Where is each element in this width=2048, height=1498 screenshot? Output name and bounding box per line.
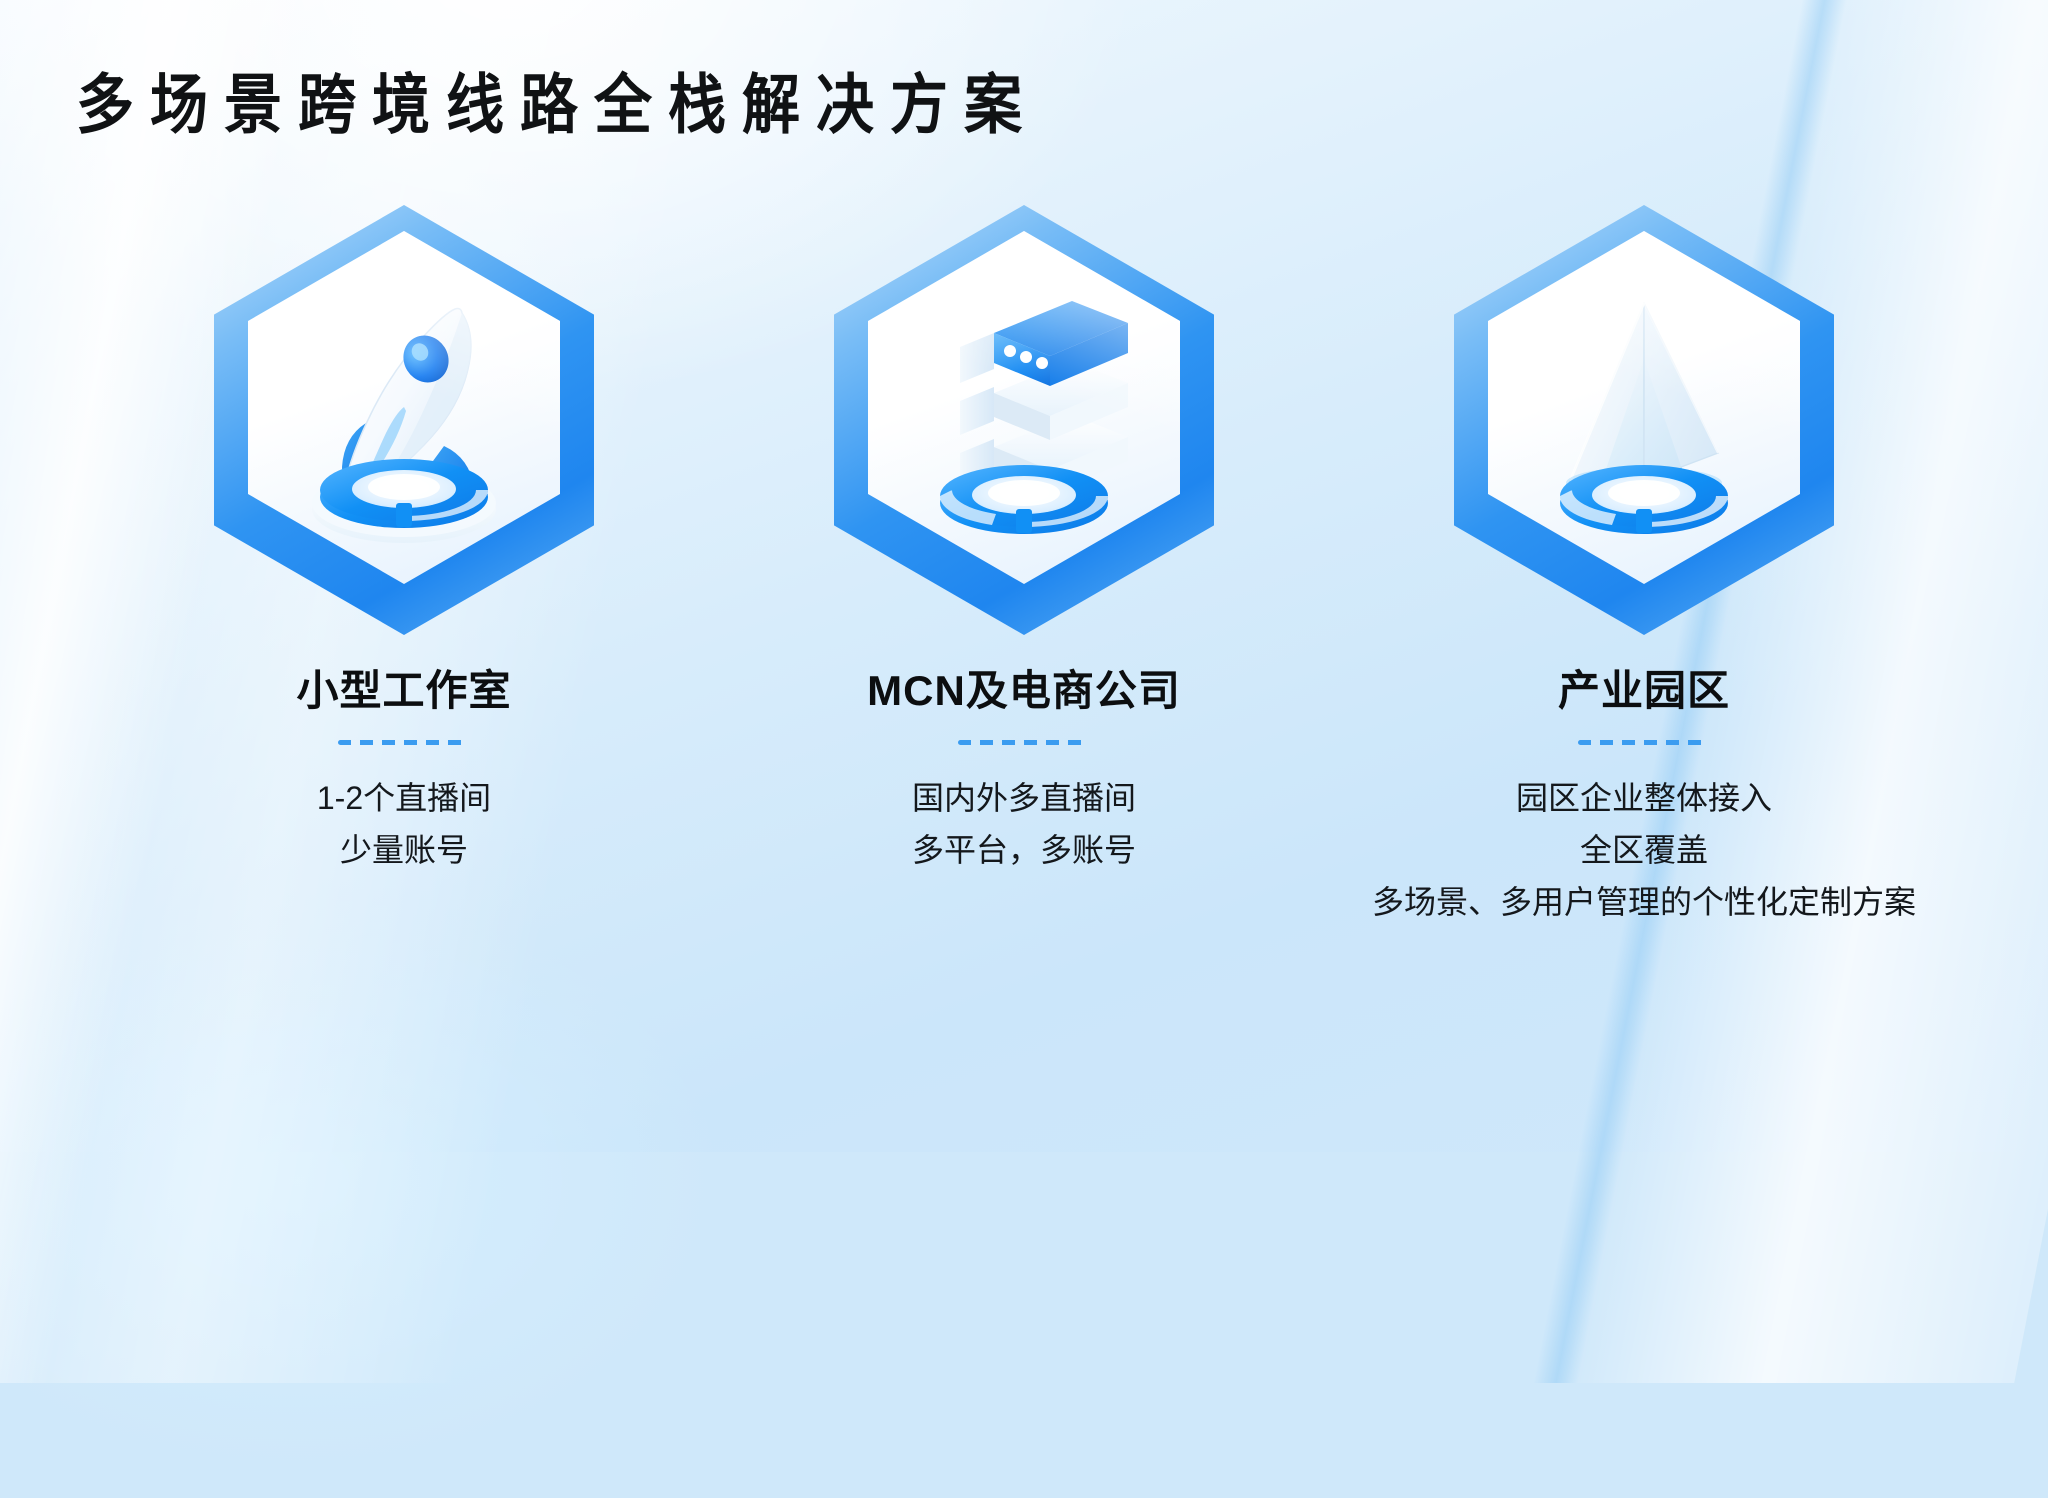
server-stack-hexagon-icon — [814, 205, 1234, 635]
rocket-illustration — [248, 231, 560, 584]
card-body-line: 多平台，多账号 — [912, 825, 1136, 877]
card-body-line: 1-2个直播间 — [317, 773, 491, 825]
card-body-line: 国内外多直播间 — [912, 773, 1136, 825]
card-body: 园区企业整体接入 全区覆盖 多场景、多用户管理的个性化定制方案 — [1372, 773, 1916, 928]
card-title: 产业园区 — [1558, 657, 1730, 718]
glass-pyramid-hexagon-icon — [1434, 205, 1854, 635]
solution-card-mcn-ecommerce[interactable]: MCN及电商公司 国内外多直播间 多平台，多账号 — [714, 205, 1334, 877]
solution-card-small-studio[interactable]: 小型工作室 1-2个直播间 少量账号 — [94, 205, 714, 877]
server-stack-illustration — [868, 231, 1180, 584]
card-body: 国内外多直播间 多平台，多账号 — [912, 773, 1136, 877]
solution-card-industrial-park[interactable]: 产业园区 园区企业整体接入 全区覆盖 多场景、多用户管理的个性化定制方案 — [1334, 205, 1954, 928]
solution-card-list: 小型工作室 1-2个直播间 少量账号 — [0, 205, 2048, 928]
pyramid-illustration — [1488, 231, 1800, 584]
card-body-line: 多场景、多用户管理的个性化定制方案 — [1372, 877, 1916, 929]
card-body-line: 少量账号 — [317, 825, 491, 877]
card-body-line: 园区企业整体接入 — [1372, 773, 1916, 825]
page-title: 多场景跨境线路全栈解决方案 — [76, 52, 1038, 146]
card-body: 1-2个直播间 少量账号 — [317, 773, 491, 877]
card-divider — [1578, 740, 1710, 745]
background-glow-bottom — [0, 864, 758, 1498]
card-title: MCN及电商公司 — [867, 657, 1181, 718]
rocket-hexagon-icon — [194, 205, 614, 635]
card-title: 小型工作室 — [296, 657, 511, 718]
card-divider — [338, 740, 470, 745]
card-body-line: 全区覆盖 — [1372, 825, 1916, 877]
card-divider — [958, 740, 1090, 745]
